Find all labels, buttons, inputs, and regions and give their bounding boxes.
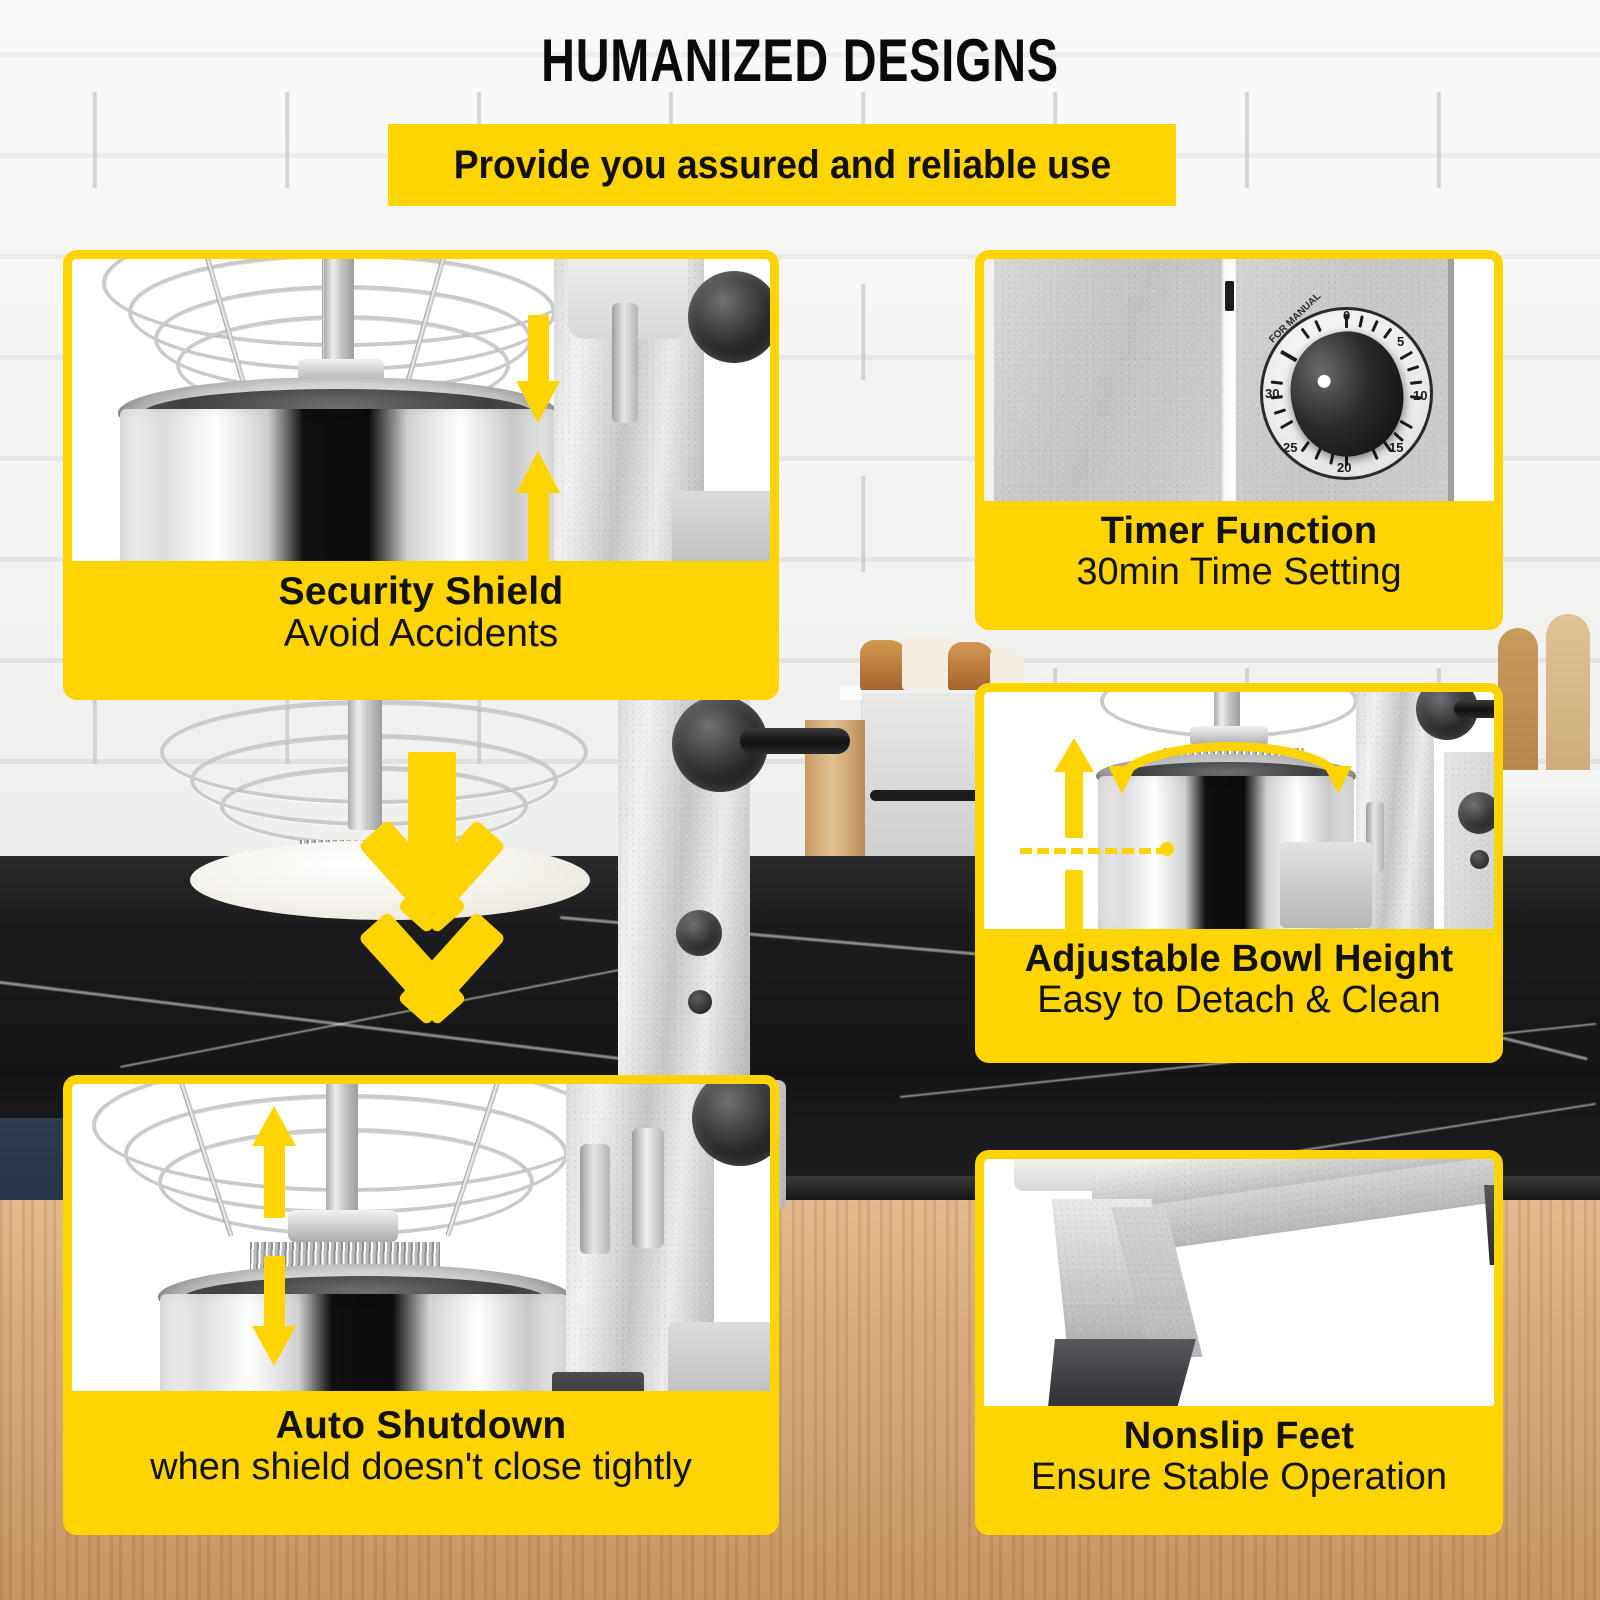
dial-tick-25: 25 [1283, 440, 1297, 455]
panel-security-shield[interactable]: Security Shield Avoid Accidents [63, 250, 779, 700]
panel-auto-shutdown[interactable]: Auto Shutdown when shield doesn't close … [63, 1075, 779, 1535]
panel-timer-function[interactable]: 0 5 10 15 20 25 30 FOR MANUAL Timer Func… [975, 250, 1503, 630]
bowl-height-caption: Adjustable Bowl Height Easy to Detach & … [984, 929, 1494, 1054]
cream-cake [902, 636, 954, 690]
bowl-height-guide [1020, 848, 1168, 854]
shield-drop-arrow-down [252, 1256, 296, 1368]
bowl-height-marker [1160, 842, 1174, 856]
bread-loaf [860, 640, 908, 692]
timer-photo: 0 5 10 15 20 25 30 FOR MANUAL [984, 259, 1494, 519]
caption-subtitle: when shield doesn't close tightly [78, 1447, 764, 1488]
timer-caption: Timer Function 30min Time Setting [984, 501, 1494, 621]
security-shield-caption: Security Shield Avoid Accidents [72, 561, 770, 691]
panel-nonslip-feet[interactable]: Nonslip Feet Ensure Stable Operation [975, 1150, 1503, 1535]
timer-dial[interactable]: 0 5 10 15 20 25 30 FOR MANUAL [1260, 307, 1433, 480]
caption-subtitle: Ensure Stable Operation [990, 1457, 1488, 1498]
security-shield-photo [72, 259, 770, 579]
subtitle-banner: Provide you assured and reliable use [388, 124, 1176, 206]
dial-tick-10: 10 [1413, 388, 1427, 403]
shield-close-arrow-down [516, 315, 560, 425]
shield-open-arrow-up [516, 451, 560, 569]
shield-lift-arrow-up [252, 1106, 296, 1218]
wooden-spatula [1546, 614, 1590, 784]
panel-adjustable-bowl-height[interactable]: Adjustable Bowl Height Easy to Detach & … [975, 683, 1503, 1063]
bowl-raise-arrow-up [1054, 738, 1094, 838]
caption-title: Timer Function [990, 511, 1488, 552]
lowering-chevron-down [352, 932, 512, 1028]
dial-tick-20: 20 [1337, 460, 1351, 475]
caption-title: Nonslip Feet [990, 1416, 1488, 1457]
auto-shutdown-photo [72, 1084, 770, 1409]
caption-subtitle: Easy to Detach & Clean [990, 980, 1488, 1021]
caption-title: Security Shield [78, 571, 764, 613]
auto-shutdown-caption: Auto Shutdown when shield doesn't close … [72, 1391, 770, 1526]
caption-title: Auto Shutdown [78, 1405, 764, 1447]
caption-subtitle: Avoid Accidents [78, 613, 764, 655]
nonslip-feet-photo [984, 1159, 1494, 1424]
dial-tick-15: 15 [1389, 440, 1403, 455]
subtitle-text: Provide you assured and reliable use [453, 143, 1110, 188]
bowl-height-photo [984, 692, 1494, 947]
caption-title: Adjustable Bowl Height [990, 939, 1488, 980]
product-feature-infographic: HUMANIZED DESIGNS Provide you assured an… [0, 0, 1600, 1600]
wooden-spoon [1498, 628, 1538, 778]
nonslip-feet-caption: Nonslip Feet Ensure Stable Operation [984, 1406, 1494, 1526]
dial-tick-5: 5 [1397, 334, 1404, 349]
page-title: HUMANIZED DESIGNS [176, 26, 1424, 95]
caption-subtitle: 30min Time Setting [990, 552, 1488, 593]
dial-tick-0: 0 [1343, 308, 1350, 323]
rotation-arrow [1090, 726, 1370, 816]
dial-tick-30: 30 [1265, 386, 1279, 401]
